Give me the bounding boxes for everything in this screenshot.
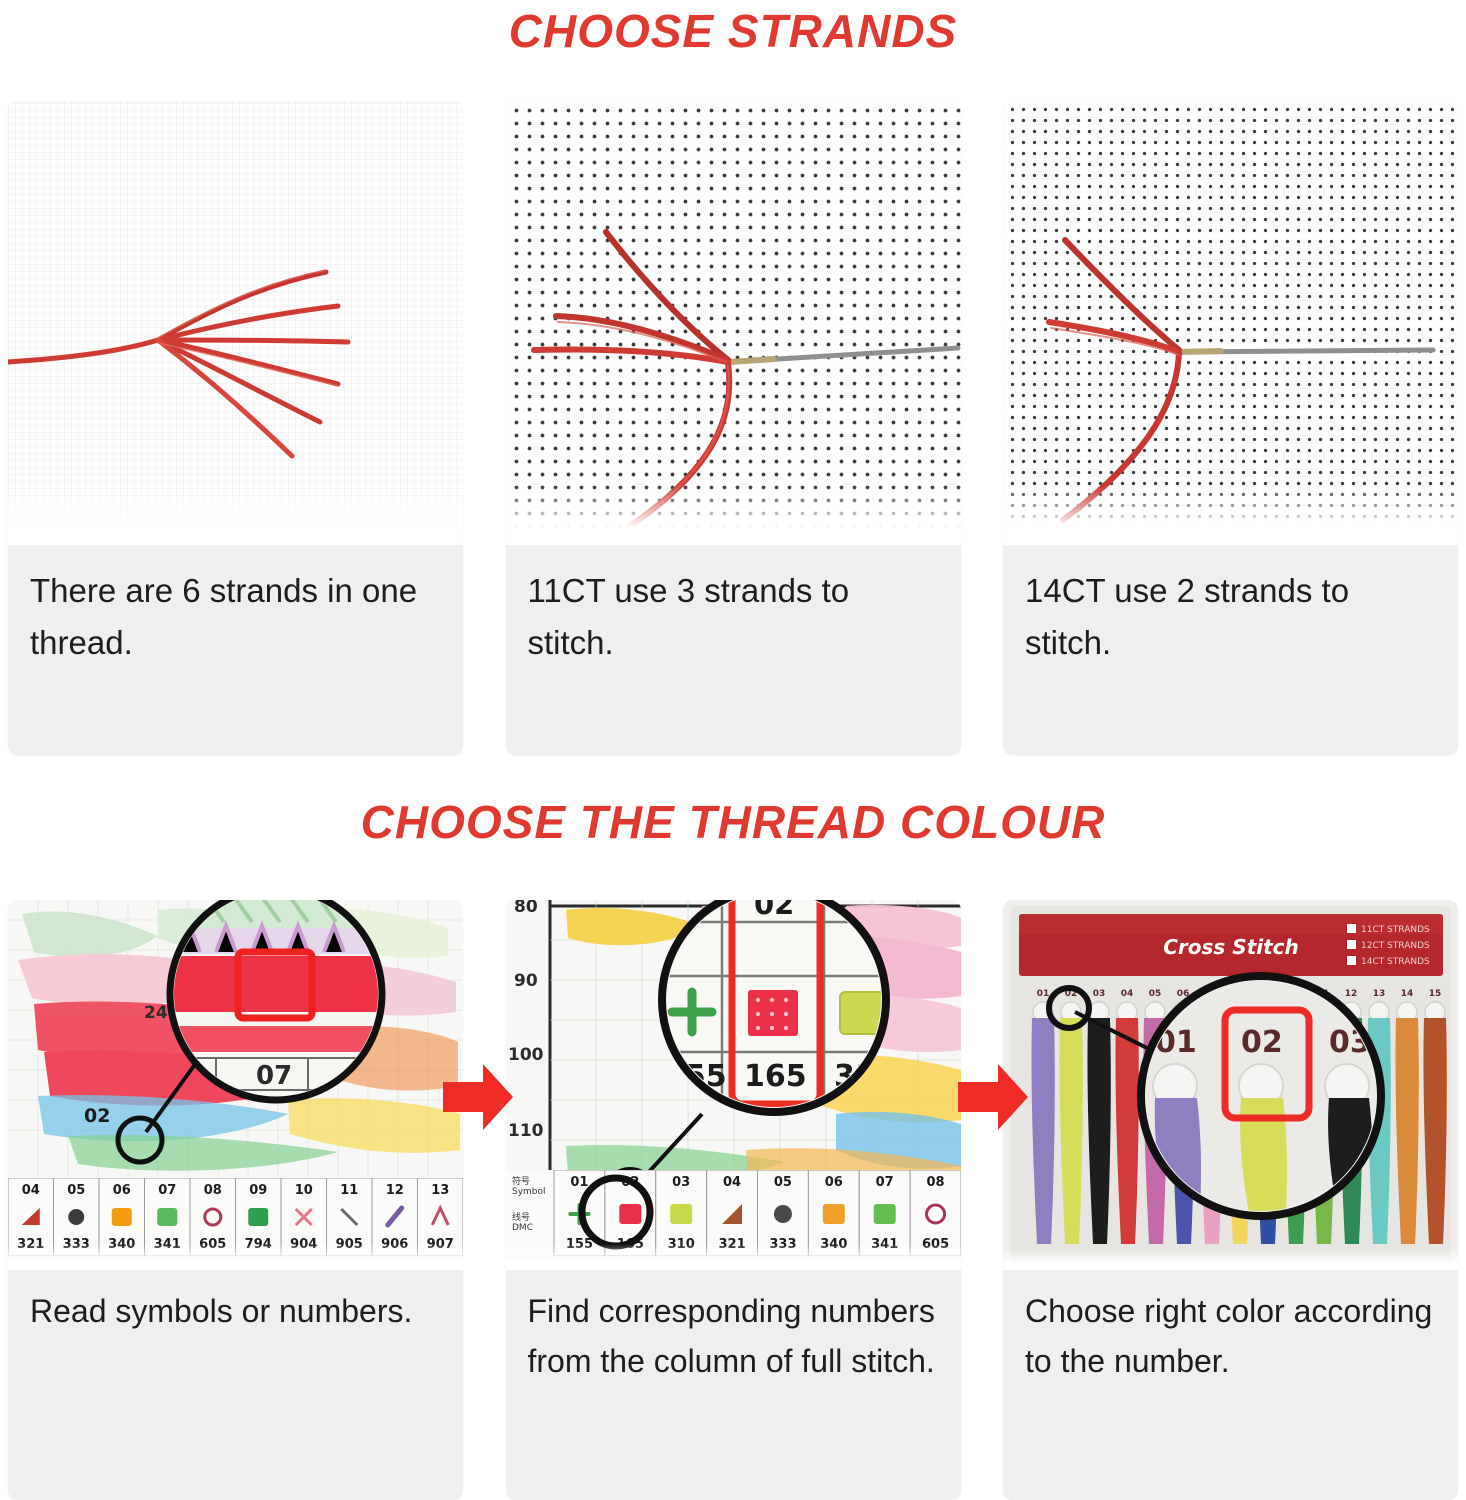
organizer-card-title: Cross Stitch [1163,935,1299,959]
svg-text:Symbol: Symbol [512,1187,546,1197]
svg-text:165: 165 [744,1059,807,1094]
card-14ct-two-strands: 14CT use 2 strands to stitch. [1003,100,1458,755]
legend-symbol [773,1205,791,1223]
legend-symbol [619,1204,641,1224]
legend-column-number: 12 [386,1183,404,1198]
thread-slot-number: 03 [1093,989,1106,999]
thread-slot-number: 15 [1429,989,1442,999]
three-strands-threaded-needle-11ct-photo [506,100,961,545]
thread-colour-card-row: 07 0 02 24 04321053330634007341086050979… [0,900,1466,1500]
legend-column-number: 06 [113,1183,131,1198]
svg-text:80: 80 [514,900,538,917]
two-strands-threaded-needle-14ct-photo [1003,100,1458,545]
svg-text:14CT STRANDS: 14CT STRANDS [1361,957,1430,967]
photo-bottom-fade [1003,1248,1458,1270]
legend-column-number: 05 [773,1175,791,1190]
card-caption-read-symbols: Read symbols or numbers. [8,1270,463,1500]
six-strands-on-plain-fabric-photo [8,100,463,545]
card-caption-six-strands: There are 6 strands in one thread. [8,545,463,755]
section-heading-choose-thread-colour: CHOOSE THE THREAD COLOUR [0,793,1466,851]
legend-column-number: 11 [340,1183,358,1198]
svg-text:DMC: DMC [512,1223,533,1233]
svg-text:11CT STRANDS: 11CT STRANDS [1361,925,1430,935]
svg-text:02: 02 [754,900,794,921]
card-caption-14ct: 14CT use 2 strands to stitch. [1003,545,1458,755]
legend-column-number: 07 [875,1175,893,1190]
strands-card-row: There are 6 strands in one thread. [0,100,1466,760]
legend-column-number: 13 [431,1183,449,1198]
thread-slot-number: 12 [1345,989,1358,999]
legend-column-number: 04 [22,1183,40,1198]
legend-column-number: 09 [249,1183,267,1198]
legend-column-number: 04 [723,1175,741,1190]
legend-column-number: 08 [926,1175,944,1190]
needle-shape [730,348,958,362]
card-caption-11ct: 11CT use 3 strands to stitch. [506,545,961,755]
legend-symbol [822,1204,844,1224]
photo-bottom-fade [8,485,463,545]
section-heading-choose-strands: CHOOSE STRANDS [0,2,1466,60]
thread-slot-number: 14 [1401,989,1414,999]
legend-symbol [670,1204,692,1224]
arrow-right-icon-2 [958,1060,1028,1134]
card-find-numbers: 80 90 100 110 [506,900,961,1500]
arrow-right-icon-1 [443,1060,513,1134]
legend-column-number: 07 [158,1183,176,1198]
pattern-chart-with-magnifier-photo: 07 0 02 24 04321053330634007341086050979… [8,900,463,1270]
thread-organizer-card-photo: Cross Stitch 11CT STRANDS 12CT STRANDS 1… [1003,900,1458,1270]
thread-slot-number: 01 [1037,989,1050,999]
three-strands-needle-illustration [506,100,961,545]
svg-text:07: 07 [256,1061,292,1091]
photo-bottom-fade [8,1244,463,1270]
card-choose-color: Cross Stitch 11CT STRANDS 12CT STRANDS 1… [1003,900,1458,1500]
card-11ct-three-strands: 11CT use 3 strands to stitch. [506,100,961,755]
svg-text:线号: 线号 [512,1211,530,1223]
legend-column-number: 10 [295,1183,313,1198]
svg-text:02: 02 [1241,1025,1283,1060]
chart-legend-with-magnifier-photo: 80 90 100 110 [506,900,961,1270]
legend-column-number: 06 [824,1175,842,1190]
legend-column-number: 08 [204,1183,222,1198]
chart-row-label: 24 [144,1003,168,1023]
thread-slot-number: 05 [1149,989,1162,999]
svg-text:90: 90 [514,971,538,991]
thread-slot-number: 13 [1373,989,1386,999]
card-read-symbols: 07 0 02 24 04321053330634007341086050979… [8,900,463,1500]
legend-symbol [873,1204,895,1224]
photo-bottom-fade [506,1244,961,1270]
two-strands-needle-illustration [1003,100,1458,545]
photo-bottom-fade [506,485,961,545]
legend-symbol [157,1208,177,1226]
card-caption-find-numbers: Find corresponding numbers from the colu… [506,1270,961,1500]
six-strands-illustration [8,100,463,545]
legend-symbol [248,1208,268,1226]
photo-bottom-fade [1003,485,1458,545]
needle-shape [1179,350,1433,352]
infographic-page: CHOOSE STRANDS [0,0,1466,1500]
card-six-strands: There are 6 strands in one thread. [8,100,463,755]
thread-slot-number: 04 [1121,989,1134,999]
svg-text:符号: 符号 [512,1175,530,1187]
legend-column-number: 03 [672,1175,690,1190]
thread-organizer-art: Cross Stitch 11CT STRANDS 12CT STRANDS 1… [1003,900,1458,1270]
svg-text:12CT STRANDS: 12CT STRANDS [1361,941,1430,951]
legend-column-number: 05 [67,1183,85,1198]
callout-label-02: 02 [84,1105,110,1127]
legend-symbol [112,1208,132,1226]
card-caption-choose-color: Choose right color according to the numb… [1003,1270,1458,1500]
legend-symbol [68,1209,84,1225]
legend-column-number: 01 [570,1175,588,1190]
